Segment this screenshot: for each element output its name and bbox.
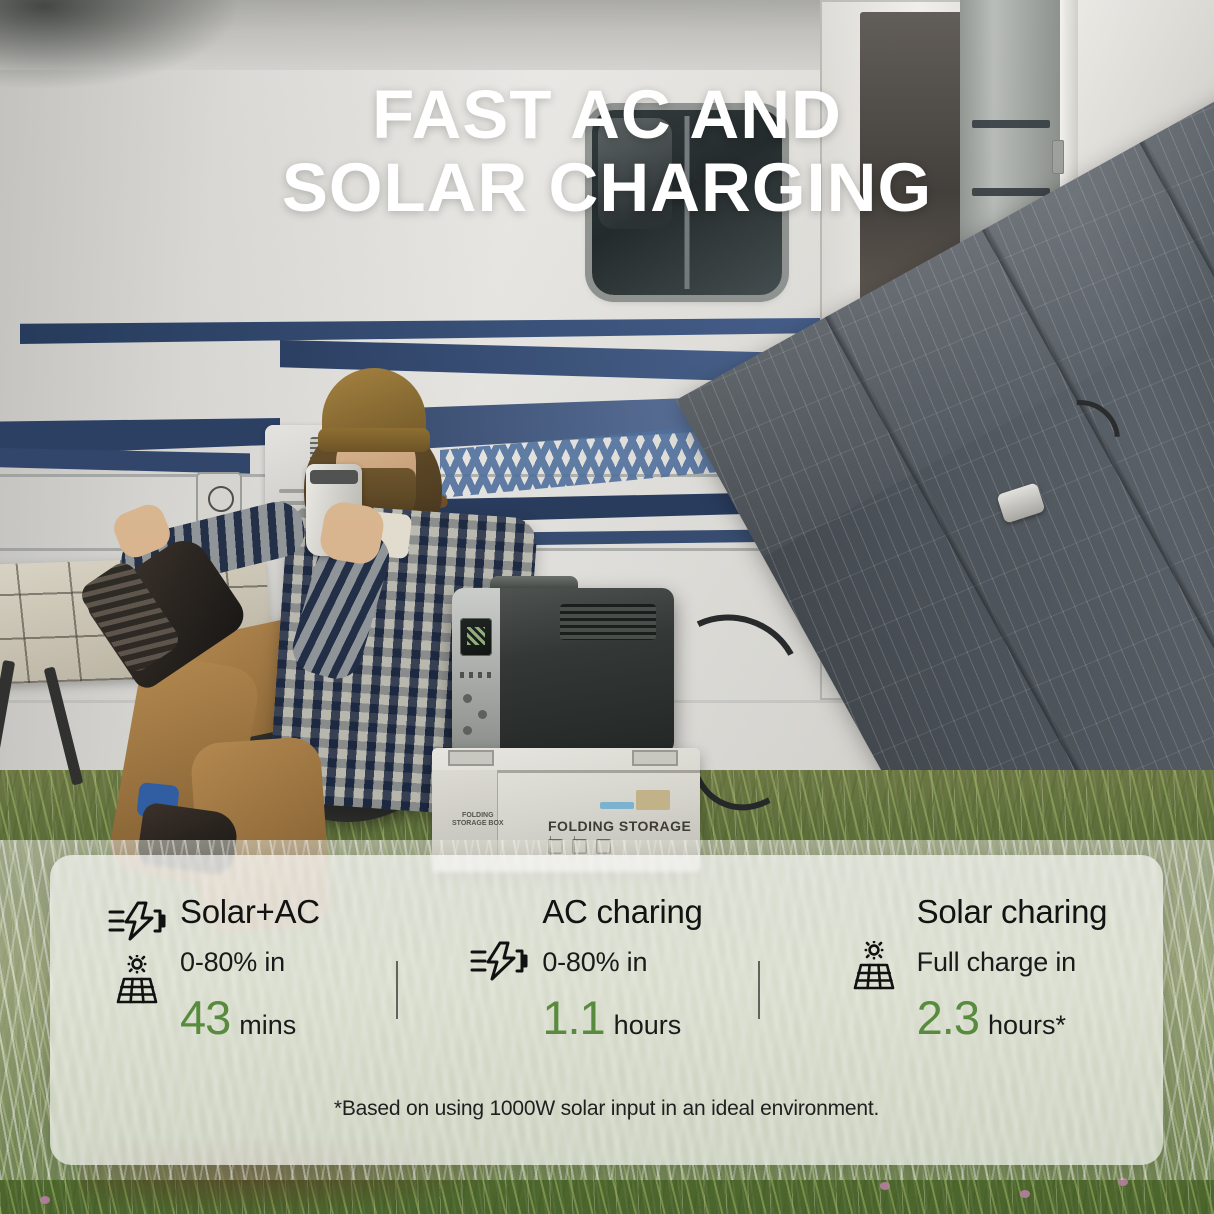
power-station-vents — [560, 604, 656, 640]
box-blue-tab — [600, 802, 634, 809]
ac-charge-icon — [470, 941, 528, 981]
spec-column-ac: AC charing 0-80% in 1.1 hours — [426, 855, 788, 1069]
headline-line-2: SOLAR CHARGING — [0, 151, 1214, 224]
spec-subtitle: 0-80% in — [180, 947, 320, 978]
box-latch — [448, 750, 494, 766]
spec-unit: hours — [614, 1010, 682, 1041]
charging-specs-columns: Solar+AC 0-80% in 43 mins — [50, 855, 1163, 1069]
spec-column-solar-ac: Solar+AC 0-80% in 43 mins — [50, 855, 426, 1069]
power-station-button — [478, 710, 487, 719]
power-station-indicators — [460, 672, 494, 678]
spec-column-solar: Solar charing Full charge in 2.3 hours* — [789, 855, 1163, 1069]
beanie-brim — [318, 428, 430, 452]
wildflower — [880, 1182, 890, 1190]
wildflower — [40, 1196, 50, 1204]
spec-icon-group — [456, 855, 542, 981]
spec-icon-group — [831, 855, 917, 993]
power-station-button — [463, 726, 472, 735]
spec-value-row: 2.3 hours* — [917, 990, 1108, 1045]
ac-charge-icon — [108, 901, 166, 941]
spec-unit: hours* — [988, 1010, 1066, 1041]
spec-text-group: AC charing 0-80% in 1.1 hours — [542, 855, 702, 1045]
spec-value-row: 43 mins — [180, 990, 320, 1045]
power-station-button — [463, 694, 472, 703]
card-footnote: *Based on using 1000W solar input in an … — [50, 1097, 1163, 1121]
column-divider — [396, 961, 398, 1019]
page-title: FAST AC AND SOLAR CHARGING — [0, 78, 1214, 224]
column-divider — [758, 961, 760, 1019]
spec-title: AC charing — [542, 893, 702, 931]
headline-line-1: FAST AC AND — [0, 78, 1214, 151]
spec-value: 2.3 — [917, 990, 979, 1045]
tree-shadow — [0, 0, 240, 90]
spec-title: Solar charing — [917, 893, 1108, 931]
spec-unit: mins — [239, 1010, 296, 1041]
storage-box-label: FOLDING STORAGE — [548, 818, 691, 834]
spec-subtitle: 0-80% in — [542, 947, 702, 978]
spec-value-row: 1.1 hours — [542, 990, 702, 1045]
spec-text-group: Solar charing Full charge in 2.3 hours* — [917, 855, 1108, 1045]
box-tan-tab — [636, 790, 670, 810]
product-marketing-image: FOLDING STORAGE FOLDINGSTORAGE BOX FAST … — [0, 0, 1214, 1214]
solar-panel-icon — [108, 955, 166, 1007]
spec-value: 1.1 — [542, 990, 604, 1045]
spec-text-group: Solar+AC 0-80% in 43 mins — [180, 855, 320, 1045]
spec-icon-group — [94, 855, 180, 1007]
spec-subtitle: Full charge in — [917, 947, 1108, 978]
power-station-display — [460, 618, 492, 656]
spec-value: 43 — [180, 990, 230, 1045]
wildflower — [1020, 1190, 1030, 1198]
storage-box-side-label: FOLDINGSTORAGE BOX — [452, 812, 504, 829]
spec-title: Solar+AC — [180, 893, 320, 931]
power-station-front-panel — [452, 588, 500, 754]
solar-panel-icon — [845, 941, 903, 993]
charging-specs-card: Solar+AC 0-80% in 43 mins — [50, 855, 1163, 1165]
person-beanie-hat — [322, 368, 426, 446]
box-latch — [632, 750, 678, 766]
